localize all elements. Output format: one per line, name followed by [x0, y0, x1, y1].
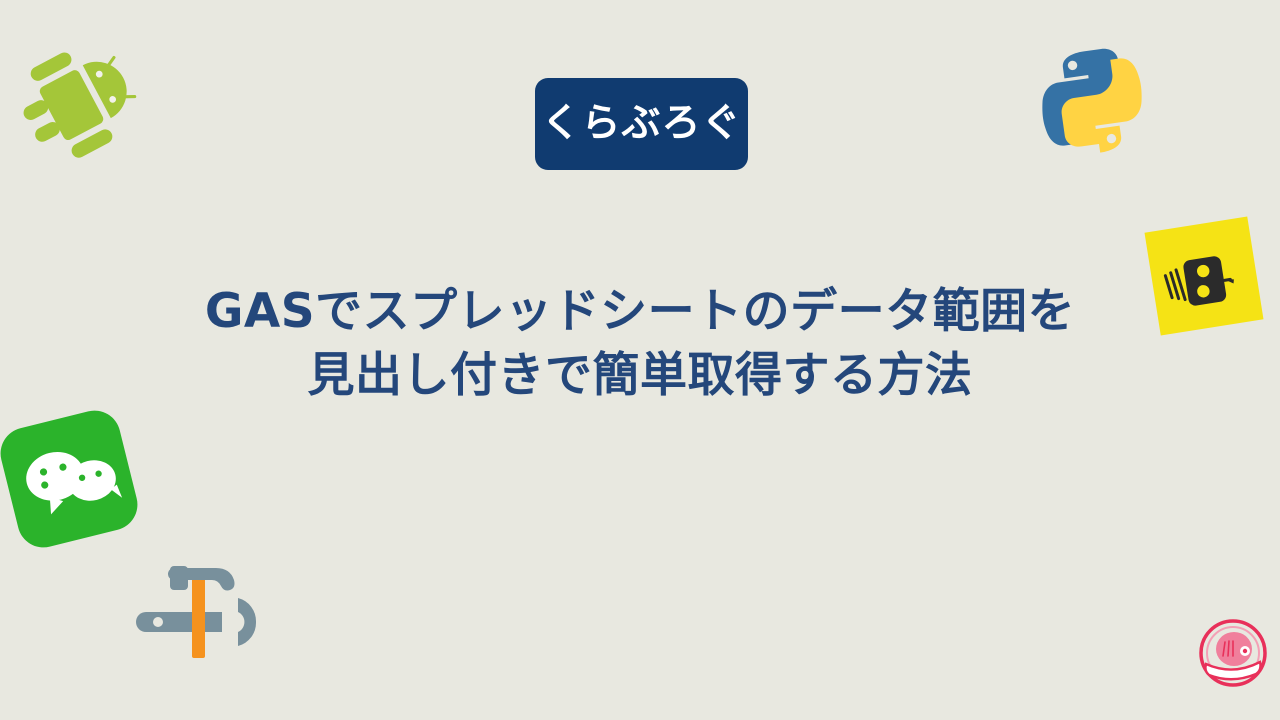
android-robot-icon: [0, 11, 171, 187]
page-title: GASでスプレッドシートのデータ範囲を 見出し付きで簡単取得する方法: [0, 280, 1280, 408]
python-logo-icon: [1024, 34, 1160, 170]
tools-hammer-wrench-icon: [136, 552, 268, 658]
page-title-line-2: 見出し付きで簡単取得する方法: [0, 344, 1280, 408]
page-title-line-1: GASでスプレッドシートのデータ範囲を: [0, 280, 1280, 344]
site-logo-text: くらぶろぐ: [541, 104, 741, 143]
wechat-icon: [0, 405, 143, 553]
site-logo-badge[interactable]: くらぶろぐ: [535, 78, 748, 170]
thumbnail-canvas: くらぶろぐ GASでスプレッドシートのデータ範囲を 見出し付きで簡単取得する方法: [0, 0, 1280, 720]
circular-stamp-badge-icon: [1198, 618, 1268, 688]
